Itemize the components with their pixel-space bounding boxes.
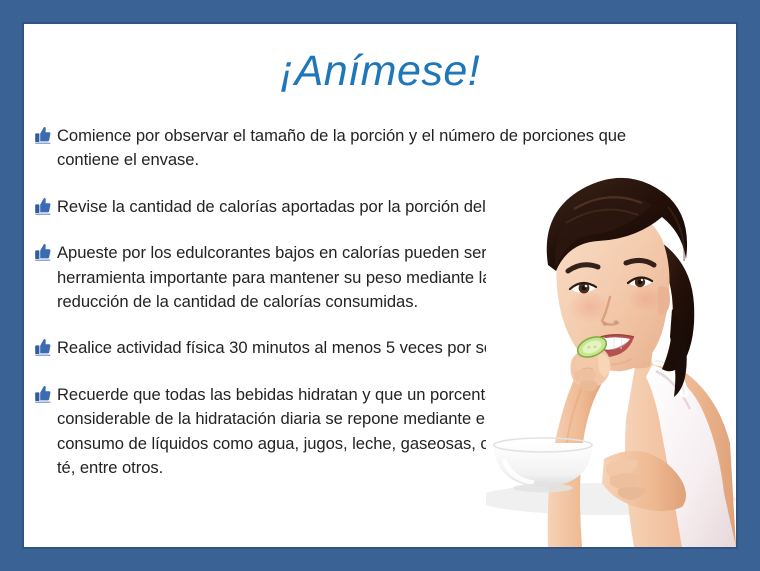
thumbs-up-icon	[34, 243, 51, 263]
thumbs-up-icon	[34, 338, 51, 358]
list-item-label: Comience por observar el tamaño de la po…	[57, 124, 677, 173]
list-item: Recuerde que todas las bebidas hidratan …	[34, 383, 694, 481]
list-item: Apueste por los edulcorantes bajos en ca…	[34, 241, 694, 314]
list-item-label: Apueste por los edulcorantes bajos en ca…	[57, 241, 557, 314]
thumbs-up-icon	[34, 197, 51, 217]
slide-canvas: ¡Anímese! Comience por observar el tamañ…	[24, 24, 736, 547]
thumbs-up-icon	[34, 385, 51, 405]
bullet-list: Comience por observar el tamaño de la po…	[34, 124, 694, 501]
list-item: Comience por observar el tamaño de la po…	[34, 124, 694, 173]
list-item: Revise la cantidad de calorías aportadas…	[34, 195, 694, 219]
list-item-label: Recuerde que todas las bebidas hidratan …	[57, 383, 527, 481]
page-title: ¡Anímese!	[24, 48, 736, 95]
list-item-label: Realice actividad física 30 minutos al m…	[57, 336, 587, 360]
thumbs-up-icon	[34, 126, 51, 146]
list-item: Realice actividad física 30 minutos al m…	[34, 336, 694, 360]
list-item-label: Revise la cantidad de calorías aportadas…	[57, 195, 657, 219]
presentation-slide: ¡Anímese! Comience por observar el tamañ…	[0, 0, 760, 571]
